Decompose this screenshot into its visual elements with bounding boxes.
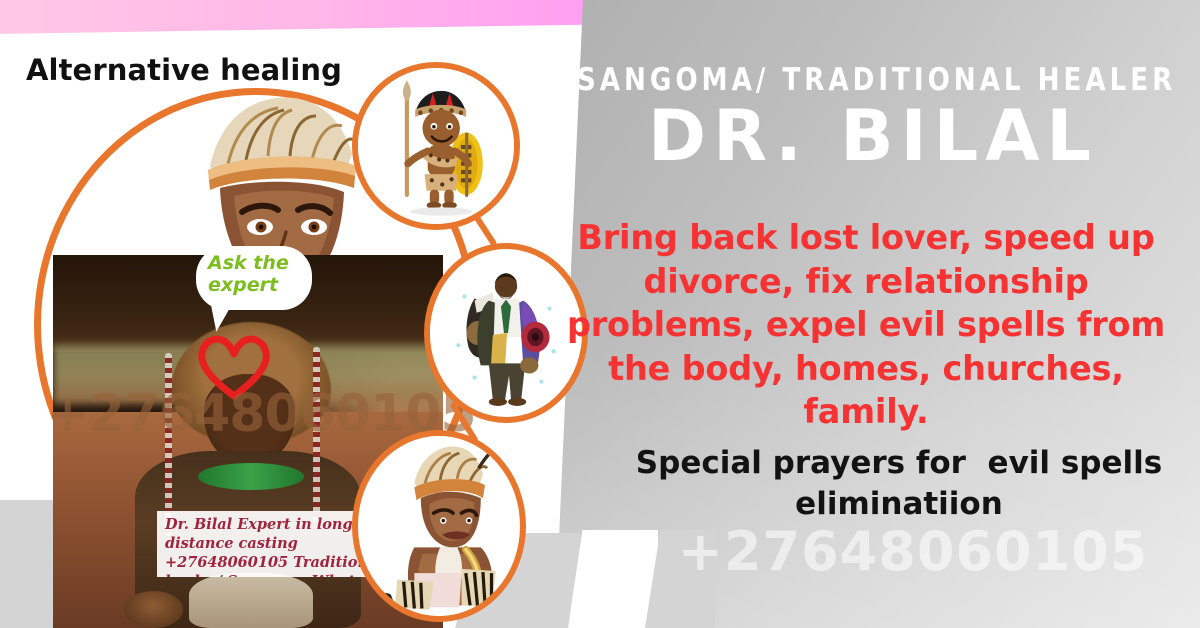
page-title: Alternative healing — [26, 53, 342, 87]
services-red-text: Bring back lost lover, speed up divorce,… — [548, 216, 1184, 434]
circle-zulu-dancer-crouching — [352, 430, 526, 622]
speech-bubble-label: Ask the expert — [208, 252, 308, 297]
photo-cloth — [189, 573, 313, 628]
photo-clay-pot — [124, 591, 183, 628]
top-bar-pink — [0, 0, 594, 34]
poster-canvas: Alternative healing — [0, 0, 1200, 628]
phone-watermark: +27648060105 — [626, 520, 1200, 583]
kicker-heading: SANGOMA/ TRADITIONAL HEALER — [577, 62, 1169, 98]
main-title: DR. BILAL — [558, 100, 1188, 174]
photo-bead-strand-left — [165, 353, 172, 537]
circle-zulu-warrior-standing — [352, 62, 520, 230]
bottom-left-gray-block — [0, 500, 60, 628]
services-black-text: Special prayers for evil spells eliminat… — [606, 443, 1192, 525]
